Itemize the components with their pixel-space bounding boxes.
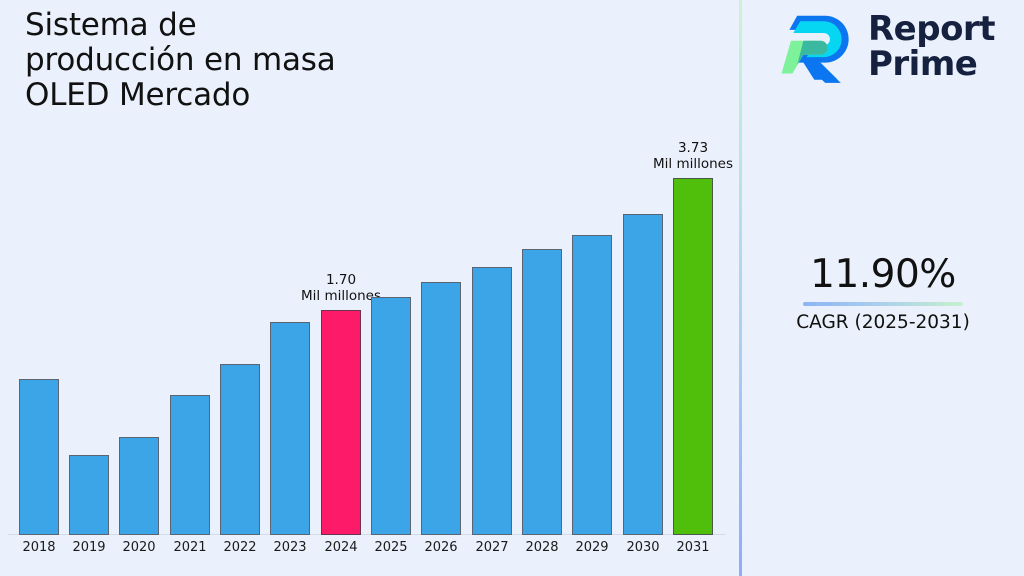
x-tick-2026: 2026	[415, 540, 467, 555]
x-tick-2023: 2023	[264, 540, 316, 555]
bar-2021[interactable]	[170, 395, 210, 535]
brand-panel: Report Prime 11.90% CAGR (2025-2031)	[742, 0, 1024, 576]
x-tick-2020: 2020	[113, 540, 165, 555]
bar-2029[interactable]	[572, 235, 612, 535]
report-prime-logo-icon	[780, 8, 858, 86]
brand-name-line-1: Report	[868, 12, 995, 47]
bar-2027[interactable]	[472, 267, 512, 535]
bar-2028[interactable]	[522, 249, 562, 535]
x-tick-2028: 2028	[516, 540, 568, 555]
chart-page: Sistema de producción en masa OLED Merca…	[0, 0, 1024, 576]
x-axis-baseline	[8, 534, 726, 535]
bar-value-2024: 1.70	[275, 272, 407, 288]
bar-chart-plot-area: 1.70 Mil millones 3.73 Mil millones	[0, 0, 740, 576]
brand-logo[interactable]: Report Prime	[780, 8, 995, 86]
bar-2025[interactable]	[371, 297, 411, 535]
chart-panel: Sistema de producción en masa OLED Merca…	[0, 0, 740, 576]
x-tick-2018: 2018	[13, 540, 65, 555]
cagr-value: 11.90%	[742, 252, 1024, 298]
x-tick-2019: 2019	[63, 540, 115, 555]
x-tick-2031: 2031	[667, 540, 719, 555]
cagr-divider-rule	[803, 302, 963, 306]
bar-2026[interactable]	[421, 282, 461, 535]
cagr-block: 11.90% CAGR (2025-2031)	[742, 252, 1024, 334]
bar-2024[interactable]	[321, 310, 361, 535]
bar-2030[interactable]	[623, 214, 663, 535]
x-tick-2027: 2027	[466, 540, 518, 555]
brand-name-line-2: Prime	[868, 47, 995, 82]
x-tick-2029: 2029	[566, 540, 618, 555]
bar-2019[interactable]	[69, 455, 109, 535]
bar-2022[interactable]	[220, 364, 260, 535]
bar-2018[interactable]	[19, 379, 59, 535]
brand-name: Report Prime	[868, 12, 995, 82]
x-tick-2030: 2030	[617, 540, 669, 555]
bar-2023[interactable]	[270, 322, 310, 535]
cagr-caption: CAGR (2025-2031)	[742, 312, 1024, 334]
x-tick-2024: 2024	[315, 540, 367, 555]
bar-2031[interactable]	[673, 178, 713, 535]
x-tick-2025: 2025	[365, 540, 417, 555]
bar-2020[interactable]	[119, 437, 159, 535]
x-tick-2022: 2022	[214, 540, 266, 555]
x-tick-2021: 2021	[164, 540, 216, 555]
